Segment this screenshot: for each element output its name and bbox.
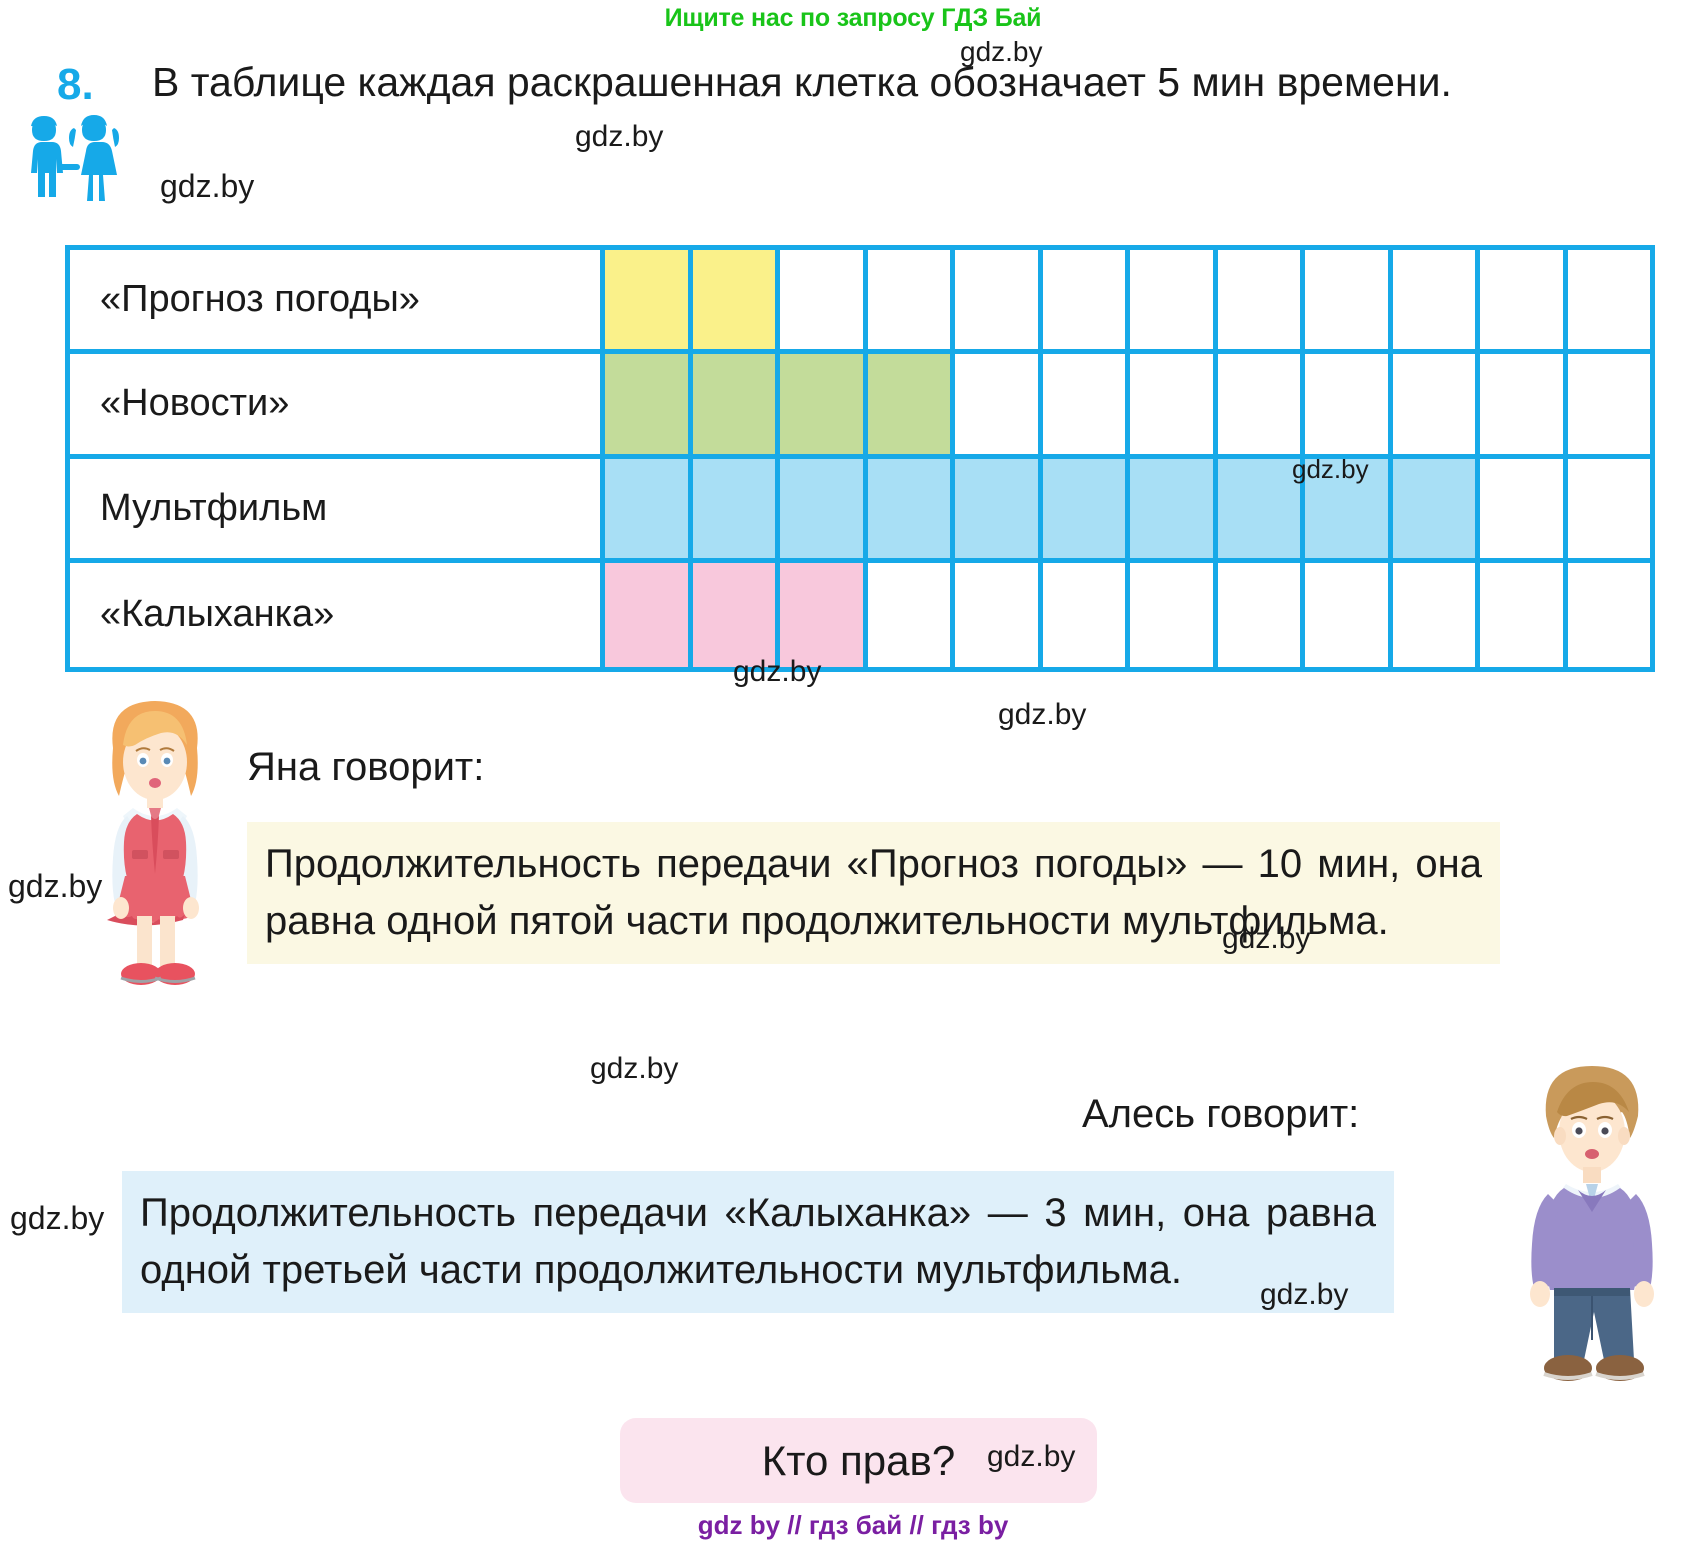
cell [780,563,868,667]
cell [1305,250,1393,349]
cell [693,354,781,453]
watermark: gdz.by [575,120,663,154]
cell [1043,250,1131,349]
cell [693,459,781,558]
boy-avatar [1500,1060,1680,1390]
table-row: «Новости» [70,354,1650,458]
cell [1305,563,1393,667]
cell [1043,354,1131,453]
row-label-news: «Новости» [70,354,605,453]
yana-quote-bubble: Продолжительность передачи «Прогноз пого… [247,822,1500,964]
cell [605,354,693,453]
cell [1130,354,1218,453]
row-cells-news [605,354,1650,453]
cell [605,563,693,667]
girl-avatar [75,690,235,995]
worksheet-page: Ищите нас по запросу ГДЗ Бай 8. В таб [0,0,1706,1549]
cell [1393,563,1481,667]
cell [780,354,868,453]
table-row: «Прогноз погоды» [70,250,1650,354]
cell [1568,354,1651,453]
ales-speaker-label: Алесь говорит: [1082,1092,1359,1137]
yana-speaker-label: Яна говорит: [247,745,484,790]
cell [1480,563,1568,667]
cell [1130,459,1218,558]
task-number: 8. [57,60,94,110]
cell [693,563,781,667]
cell [1218,250,1306,349]
cell [868,250,956,349]
cell [693,250,781,349]
cell [1218,563,1306,667]
watermark: gdz.by [590,1052,678,1086]
row-cells-cartoon [605,459,1650,558]
minutes-table: «Прогноз погоды» «Новости» [65,245,1655,672]
task-instruction: В таблице каждая раскрашенная клетка обо… [152,55,1572,109]
cell [868,354,956,453]
cell [1480,250,1568,349]
watermark: gdz.by [998,698,1086,732]
question-box: Кто прав? [620,1418,1097,1503]
table-row: Мультфильм [70,459,1650,563]
row-label-weather: «Прогноз погоды» [70,250,605,349]
cell [1218,354,1306,453]
watermark: gdz.by [160,168,254,205]
promo-banner: Ищите нас по запросу ГДЗ Бай [0,4,1706,33]
cell [955,563,1043,667]
cell [955,250,1043,349]
cell [955,459,1043,558]
cell [780,459,868,558]
cell [1393,354,1481,453]
cell [1393,250,1481,349]
two-children-icon [14,112,139,207]
cell [1043,563,1131,667]
cell [1043,459,1131,558]
cell [605,459,693,558]
row-label-kalyhanka: «Калыханка» [70,563,605,667]
table-row: «Калыханка» [70,563,1650,667]
watermark: gdz.by [10,1200,104,1237]
cell [868,459,956,558]
cell [1305,354,1393,453]
cell [868,563,956,667]
cell [1130,250,1218,349]
cell [955,354,1043,453]
cell [1568,459,1651,558]
row-label-cartoon: Мультфильм [70,459,605,558]
cell [1480,354,1568,453]
cell [605,250,693,349]
cell [1480,459,1568,558]
row-cells-weather [605,250,1650,349]
cell [1305,459,1393,558]
ales-quote-bubble: Продолжительность передачи «Калыханка» —… [122,1171,1394,1313]
row-cells-kalyhanka [605,563,1650,667]
cell [780,250,868,349]
cell [1568,250,1651,349]
cell [1218,459,1306,558]
footer-links: gdz by // гдз бай // гдз by [0,1510,1706,1541]
cell [1130,563,1218,667]
cell [1568,563,1651,667]
cell [1393,459,1481,558]
